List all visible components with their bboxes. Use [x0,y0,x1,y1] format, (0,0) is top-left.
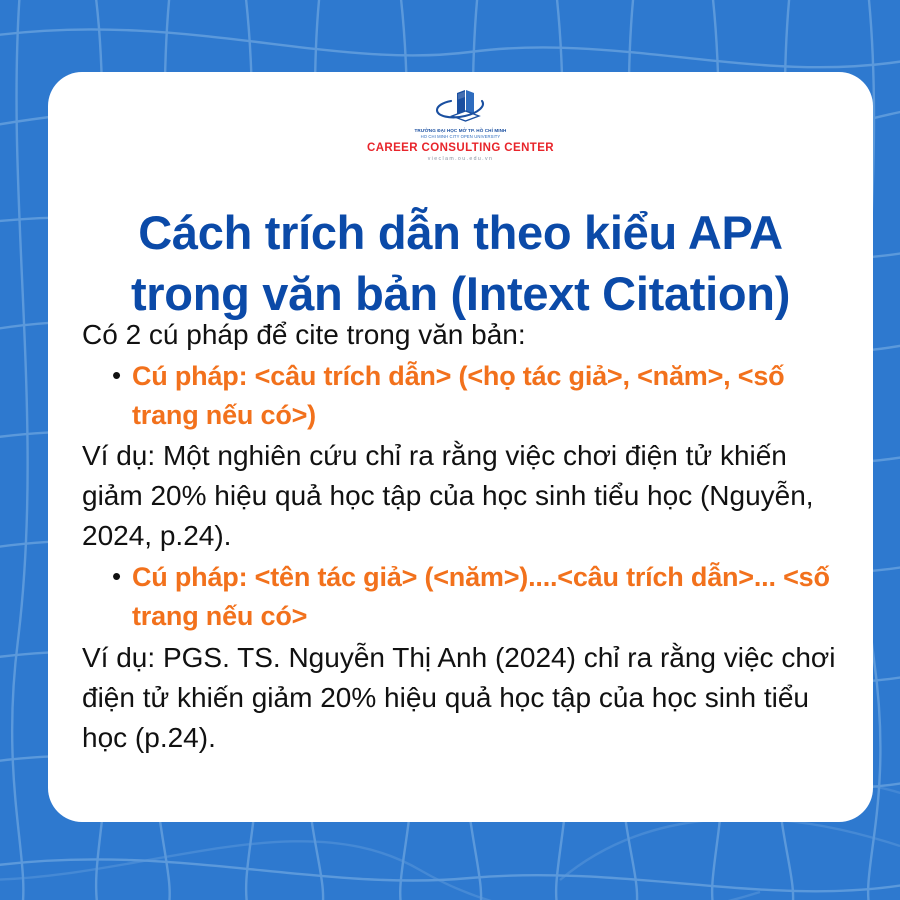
title-line-1: Cách trích dẫn theo kiểu APA [78,203,843,263]
intro-text: Có 2 cú pháp để cite trong văn bản: [82,315,847,355]
list-item: • Cú pháp: <câu trích dẫn> (<họ tác giả>… [82,357,847,434]
logo-university-en: HO CHI MINH CITY OPEN UNIVERSITY [421,134,501,139]
page-title: Cách trích dẫn theo kiểu APA trong văn b… [78,203,843,323]
bullet-icon: • [112,558,132,595]
logo-center-name: CAREER CONSULTING CENTER [367,142,554,154]
bullet-icon: • [112,357,132,394]
book-globe-icon [430,86,492,126]
body-content: Có 2 cú pháp để cite trong văn bản: • Cú… [82,315,847,758]
logo-university-vn: TRƯỜNG ĐẠI HỌC MỞ TP. HỒ CHÍ MINH [415,128,507,133]
content-card: TRƯỜNG ĐẠI HỌC MỞ TP. HỒ CHÍ MINH HO CHI… [48,72,873,822]
logo-url: vieclam.ou.edu.vn [428,156,494,162]
example-text-1: Ví dụ: Một nghiên cứu chỉ ra rằng việc c… [82,436,847,556]
list-item: • Cú pháp: <tên tác giả> (<năm>)....<câu… [82,558,847,635]
example-text-2: Ví dụ: PGS. TS. Nguyễn Thị Anh (2024) ch… [82,638,847,758]
syntax-rule-1: Cú pháp: <câu trích dẫn> (<họ tác giả>, … [132,357,847,434]
syntax-rule-2: Cú pháp: <tên tác giả> (<năm>)....<câu t… [132,558,847,635]
organization-logo: TRƯỜNG ĐẠI HỌC MỞ TP. HỒ CHÍ MINH HO CHI… [48,86,873,162]
